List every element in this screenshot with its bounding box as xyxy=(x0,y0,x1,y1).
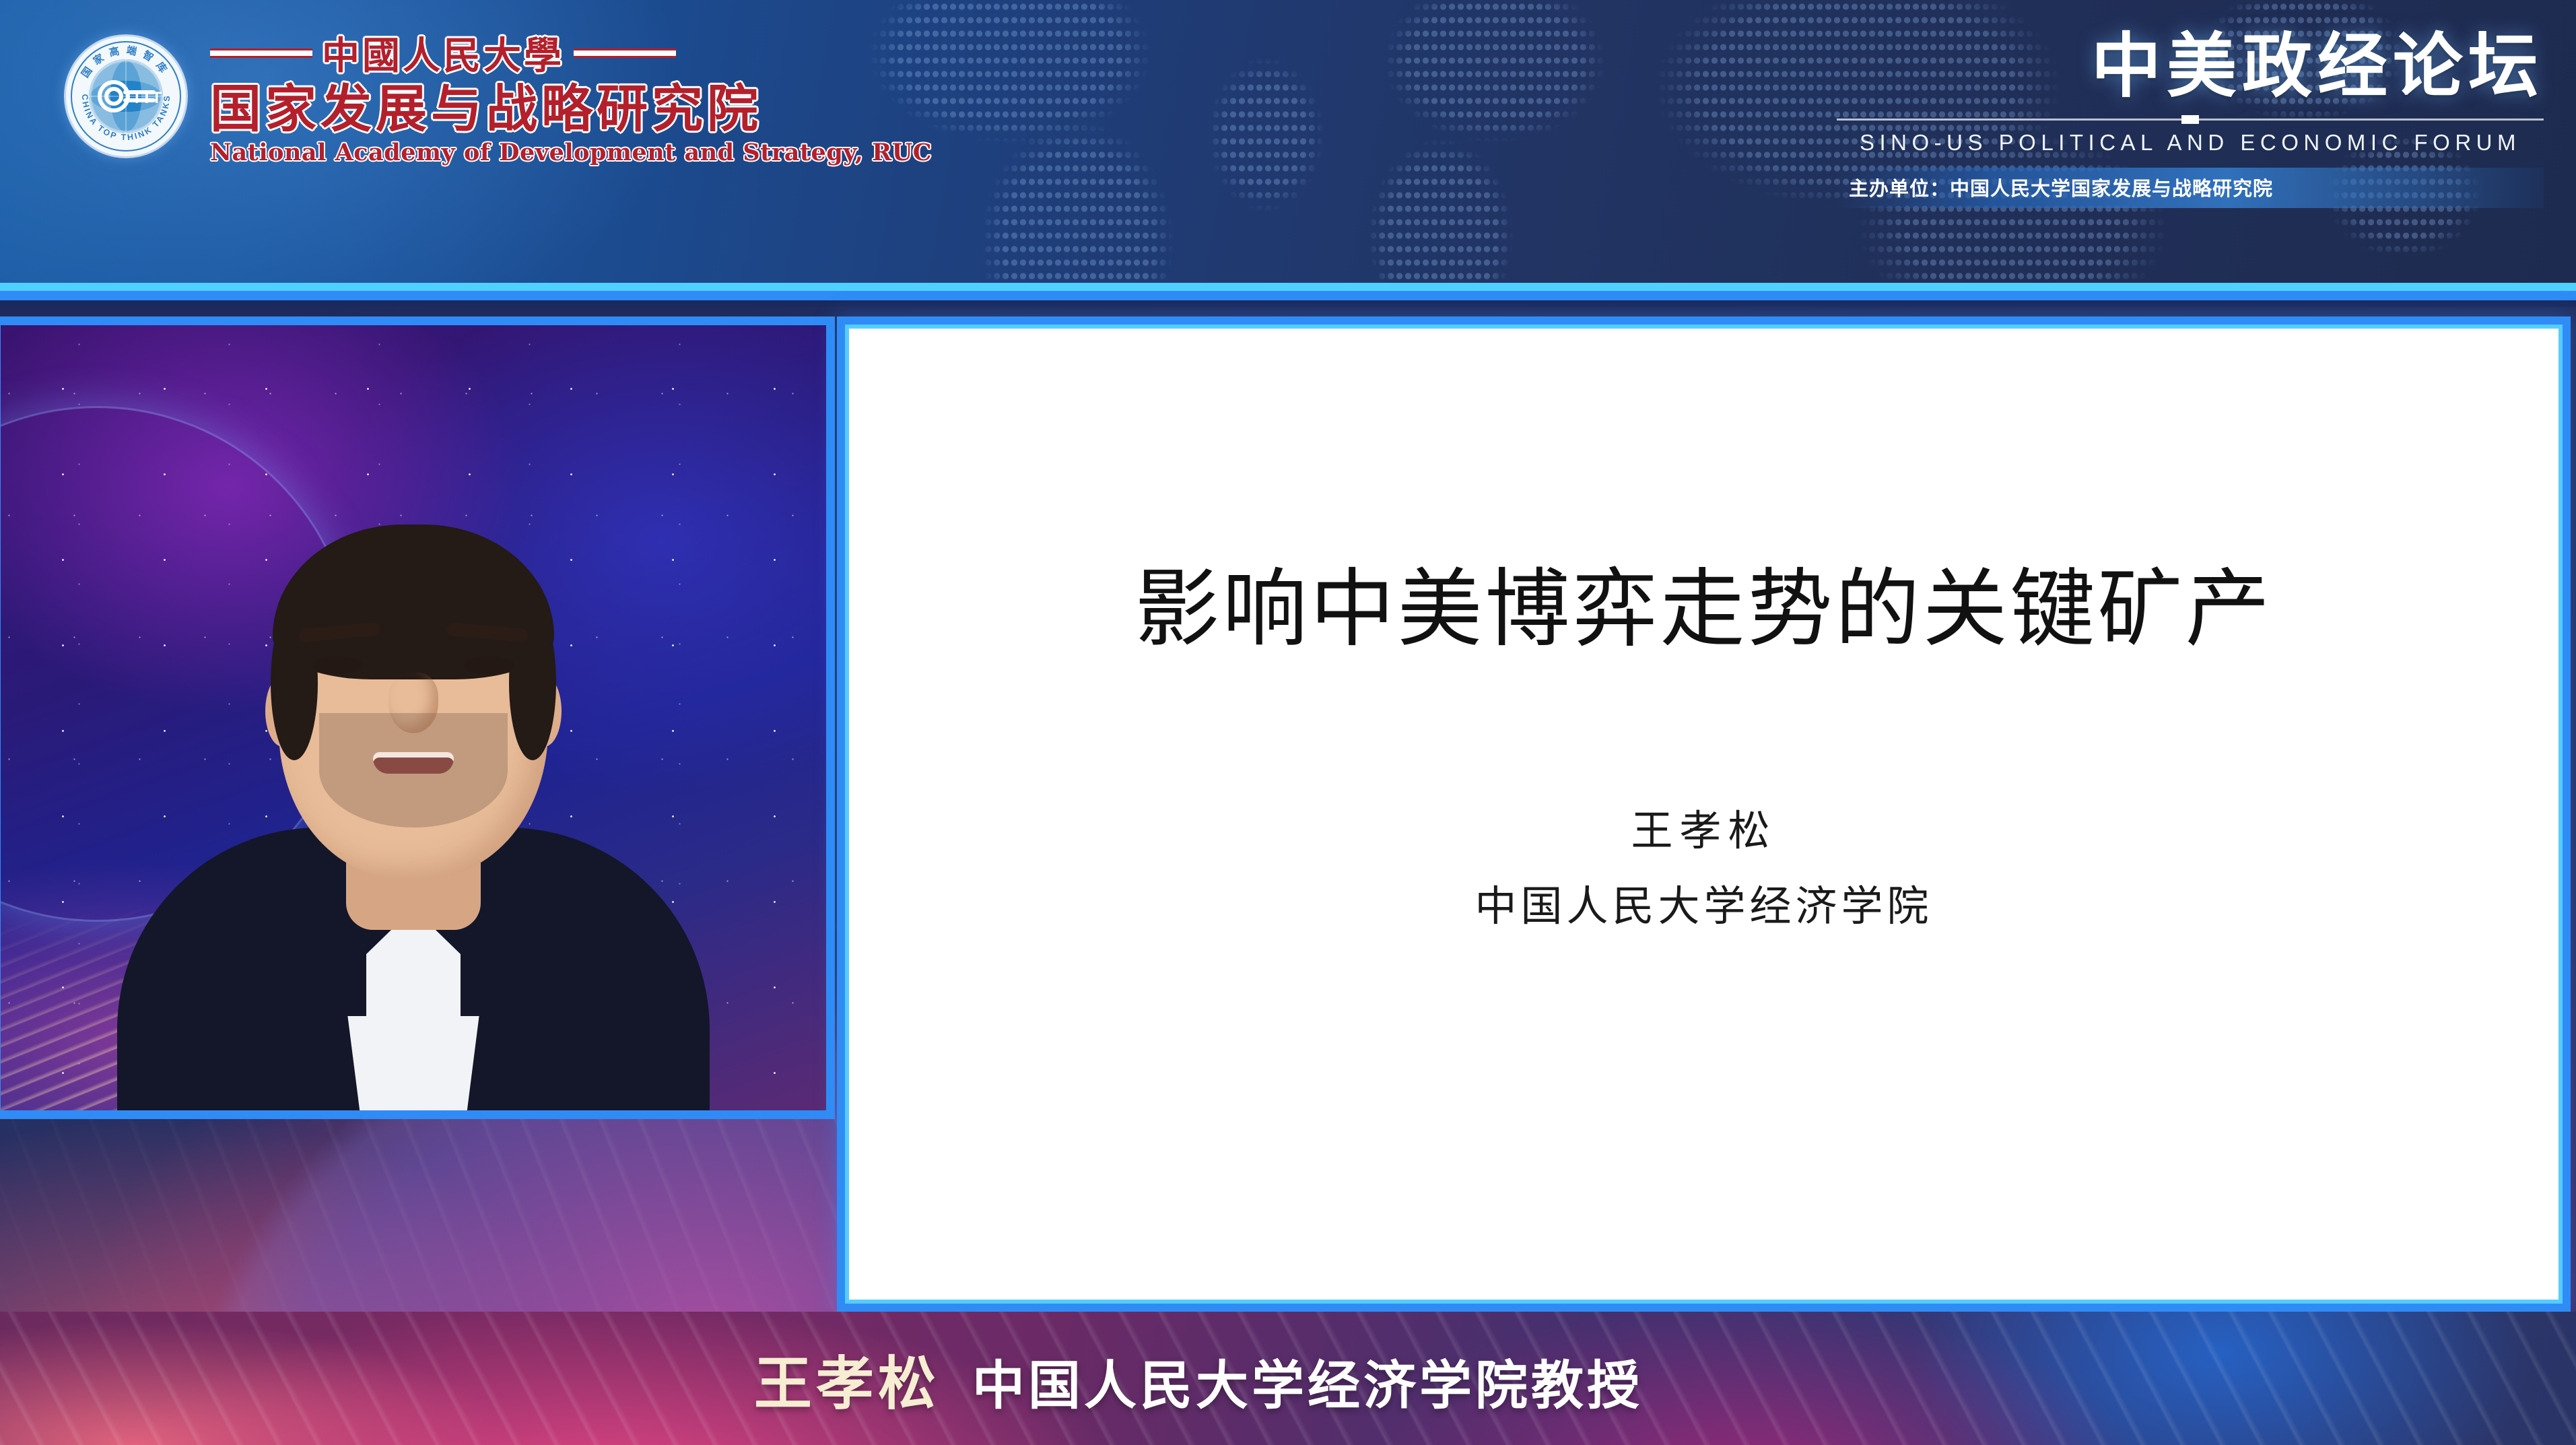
lower-third-speaker-role: 中国人民大学经济学院教授 xyxy=(972,1344,1643,1419)
speaker-mouth xyxy=(373,752,454,774)
brand-rule-right xyxy=(574,48,676,58)
slide-title: 影响中美博弈走势的关键矿产 xyxy=(1135,563,2273,657)
university-line: 中國人民大學 xyxy=(210,26,932,80)
lower-third-content: 王孝松 中国人民大学经济学院教授 xyxy=(754,1337,1643,1421)
presentation-slide-panel[interactable]: 影响中美博弈走势的关键矿产 王孝松 中国人民大学经济学院 xyxy=(837,316,2571,1312)
slide-surface: 影响中美博弈走势的关键矿产 王孝松 中国人民大学经济学院 xyxy=(849,329,2558,1300)
ruc-nads-brand-lockup: 国家高端智库 CHINA TOP THINK TANKS TTT xyxy=(66,26,932,166)
svg-text:国家高端智库: 国家高端智库 xyxy=(79,44,173,80)
speaker-nose xyxy=(388,673,438,733)
svg-text:TTT: TTT xyxy=(132,89,162,107)
speaker-video-feed xyxy=(1,325,826,1110)
broadcast-stage: 国家高端智库 CHINA TOP THINK TANKS TTT xyxy=(0,0,2576,1445)
brand-rule-left xyxy=(210,48,312,58)
lower-third-banner: 王孝松 中国人民大学经济学院教授 xyxy=(0,1312,2576,1445)
forum-host-line: 主办单位：中国人民大学国家发展与战略研究院 xyxy=(1849,173,2533,201)
slide-author: 王孝松 xyxy=(1631,797,1776,857)
lower-third-speaker-name: 王孝松 xyxy=(754,1337,940,1421)
forum-title-cn: 中美政经论坛 xyxy=(1837,30,2544,104)
forum-divider xyxy=(1837,119,2544,121)
forum-header-bar: 国家高端智库 CHINA TOP THINK TANKS TTT xyxy=(0,0,2576,300)
academy-name-en: National Academy of Development and Stra… xyxy=(210,139,932,166)
speaker-portrait xyxy=(110,437,716,1110)
header-rule-cyan xyxy=(0,283,2576,291)
university-name: 中國人民大學 xyxy=(322,26,564,80)
key-globe-icon: 国家高端智库 CHINA TOP THINK TANKS TTT xyxy=(66,36,186,156)
forum-title-en: SINO-US POLITICAL AND ECONOMIC FORUM xyxy=(1837,130,2544,156)
header-rule-blue xyxy=(0,291,2576,300)
speaker-eye-left xyxy=(312,657,362,674)
forum-title-lockup: 中美政经论坛 SINO-US POLITICAL AND ECONOMIC FO… xyxy=(1837,30,2544,208)
forum-host-band: 主办单位：中国人民大学国家发展与战略研究院 xyxy=(1837,168,2544,208)
academy-name-cn: 国家发展与战略研究院 xyxy=(210,81,932,137)
speaker-eye-right xyxy=(465,657,514,674)
china-top-think-tanks-seal: 国家高端智库 CHINA TOP THINK TANKS TTT xyxy=(66,36,186,156)
brand-text-block: 中國人民大學 国家发展与战略研究院 National Academy of De… xyxy=(210,26,932,166)
slide-affiliation: 中国人民大学经济学院 xyxy=(1475,872,1932,933)
speaker-video-tile[interactable] xyxy=(0,316,835,1119)
